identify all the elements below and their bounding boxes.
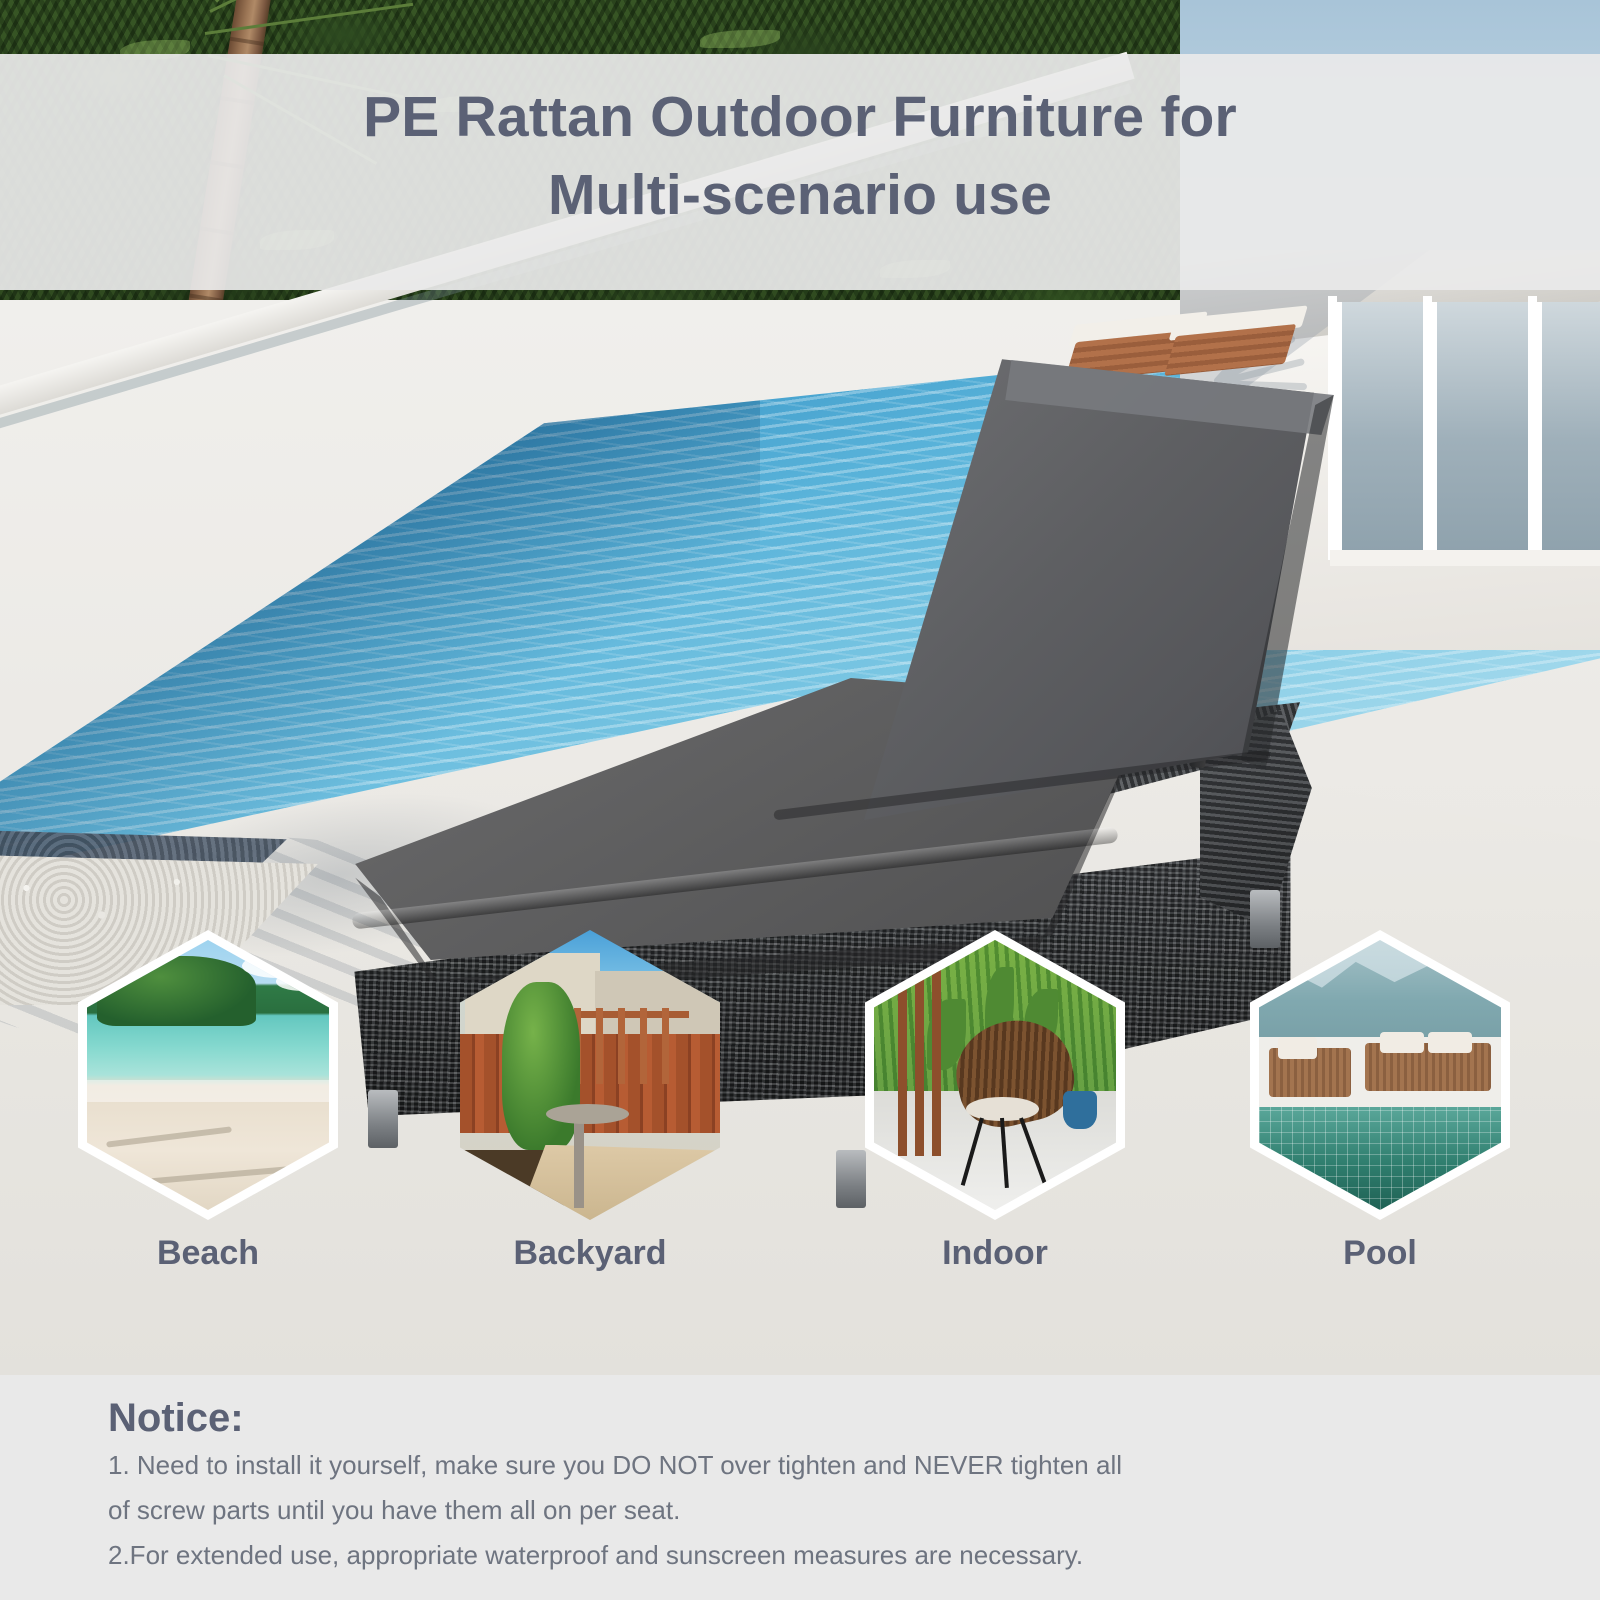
product-infographic-page: Beach <box>0 0 1600 1600</box>
hexagon-pool-frame <box>1250 930 1510 1220</box>
hexagon-indoor-frame <box>865 930 1125 1220</box>
header-band: PE Rattan Outdoor Furniture for Multi-sc… <box>0 54 1600 290</box>
notice-line-3: 2.For extended use, appropriate waterpro… <box>108 1533 1600 1578</box>
notice-heading: Notice: <box>108 1393 1600 1443</box>
scenario-label-indoor: Indoor <box>865 1234 1125 1273</box>
backyard-icon <box>460 930 720 1220</box>
scenario-backyard[interactable]: Backyard <box>460 930 720 1273</box>
scenario-label-backyard: Backyard <box>460 1234 720 1273</box>
page-title: PE Rattan Outdoor Furniture for Multi-sc… <box>0 54 1600 234</box>
scenario-beach[interactable]: Beach <box>78 930 338 1273</box>
hexagon-backyard-frame <box>460 930 720 1220</box>
notice-line-2: of screw parts until you have them all o… <box>108 1488 1600 1533</box>
scenario-indoor[interactable]: Indoor <box>865 930 1125 1273</box>
notice-line-1: 1. Need to install it yourself, make sur… <box>108 1443 1600 1488</box>
scenario-label-beach: Beach <box>78 1234 338 1273</box>
page-title-line1: PE Rattan Outdoor Furniture for <box>363 85 1237 149</box>
page-title-line2: Multi-scenario use <box>0 156 1600 234</box>
notice-panel: Notice: 1. Need to install it yourself, … <box>0 1375 1600 1600</box>
hexagon-beach-frame <box>78 930 338 1220</box>
scenario-hexagon-row: Beach <box>0 930 1600 1330</box>
scenario-pool[interactable]: Pool <box>1250 930 1510 1273</box>
scenario-label-pool: Pool <box>1250 1234 1510 1273</box>
